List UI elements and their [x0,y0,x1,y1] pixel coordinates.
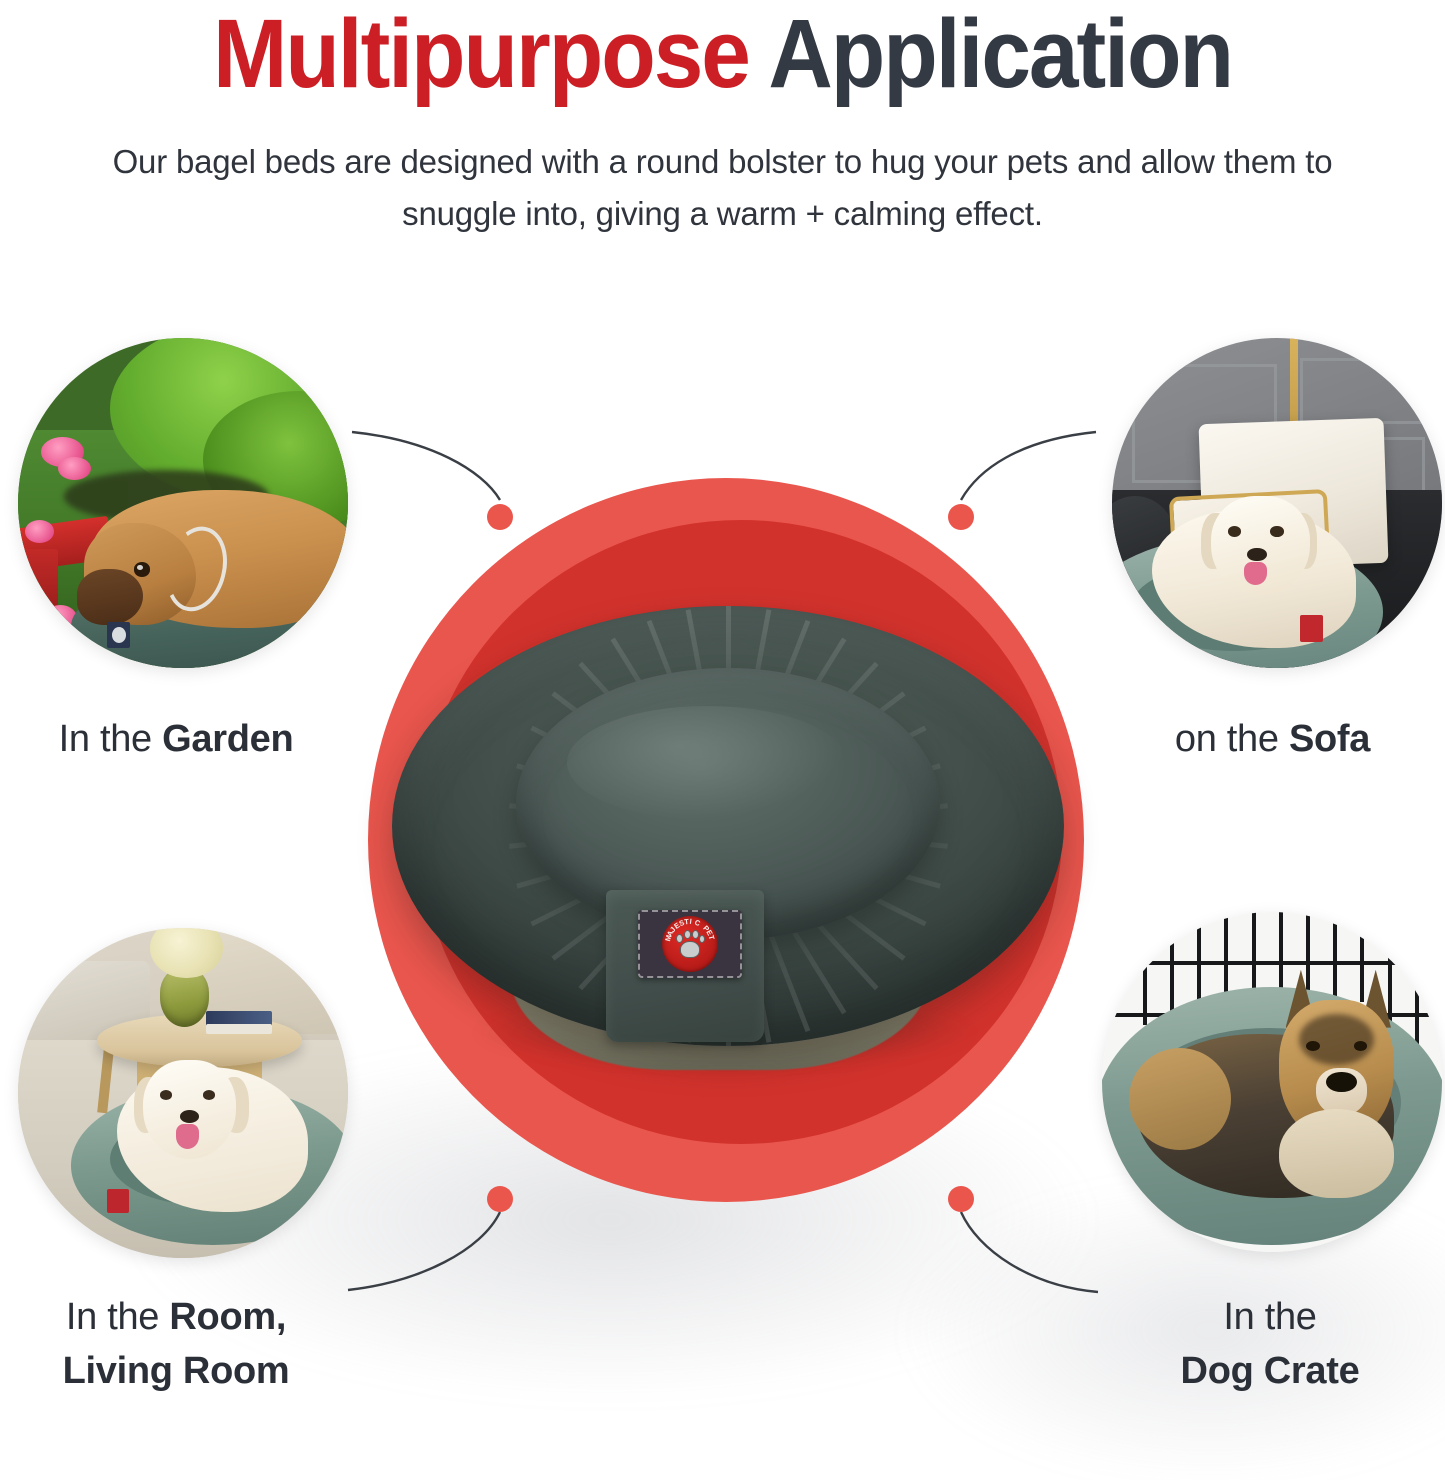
product-bagel-bed: MAJESTIC PET [392,606,1064,1106]
dog-crate-scene [1102,912,1442,1252]
scene-photo-sofa [1112,338,1442,668]
living-room-scene [18,928,348,1258]
scene-photo-dog-crate [1102,912,1442,1252]
title-secondary: Application [768,0,1232,108]
header: Multipurpose Application Our bagel beds … [0,0,1445,240]
sofa-scene [1112,338,1442,668]
connector-dot-dog-crate [948,1186,974,1212]
connector-line-dog-crate [961,1212,1098,1292]
hero-product-circle: MAJESTIC PET [368,478,1084,1202]
connector-dot-sofa [948,504,974,530]
title-primary: Multipurpose [213,0,749,108]
majestic-pet-logo-badge: MAJESTIC PET [662,916,718,972]
caption-room-prefix: In the [66,1296,170,1338]
connector-dot-living-room [487,1186,513,1212]
caption-sofa-prefix: on the [1175,718,1289,760]
caption-dog-crate: In the Dog Crate [1095,1290,1445,1398]
caption-living-room: In the Room, Living Room [0,1290,352,1398]
garden-scene [18,338,348,668]
caption-garden-prefix: In the [59,718,163,760]
caption-garden: In the Garden [0,712,352,766]
caption-room-bold: Room, [169,1296,286,1338]
caption-garden-bold: Garden [162,718,293,760]
caption-room-bold-line2: Living Room [63,1350,290,1392]
caption-sofa-bold: Sofa [1289,718,1370,760]
connector-dot-garden [487,504,513,530]
brand-tag: MAJESTIC PET [638,910,742,978]
caption-crate-bold-line2: Dog Crate [1181,1350,1360,1392]
page-title: Multipurpose Application [58,0,1387,106]
page-subtitle: Our bagel beds are designed with a round… [108,136,1338,240]
connector-line-living-room [348,1212,500,1290]
scene-photo-living-room [18,928,348,1258]
scene-photo-garden [18,338,348,668]
caption-sofa: on the Sofa [1100,712,1445,766]
paw-print-icon [675,929,705,959]
caption-crate-prefix: In the [1223,1296,1316,1338]
